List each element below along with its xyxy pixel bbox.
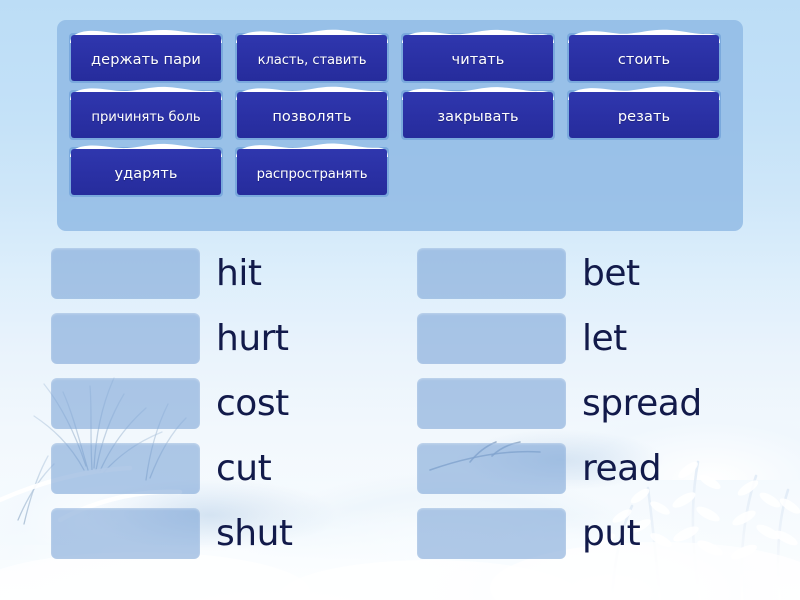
answer-column-right: bet let spread read put — [417, 246, 702, 571]
word-bank-row-1: держать пари класть, ставить читать — [69, 33, 731, 83]
answer-word: cost — [216, 386, 289, 422]
tile-label: стоить — [614, 52, 674, 68]
tile-label: позволять — [268, 109, 355, 125]
answer-row: shut — [51, 506, 293, 561]
draggable-tile[interactable]: позволять — [235, 90, 389, 140]
answer-row: hurt — [51, 311, 293, 366]
answer-dropzone[interactable] — [51, 313, 200, 364]
answer-dropzone[interactable] — [417, 378, 566, 429]
tile-label: распространять — [253, 167, 372, 182]
answer-dropzone[interactable] — [417, 508, 566, 559]
answer-dropzone[interactable] — [417, 313, 566, 364]
answer-row: spread — [417, 376, 702, 431]
answer-word: hit — [216, 256, 261, 292]
draggable-tile[interactable]: причинять боль — [69, 90, 223, 140]
tile-label: читать — [448, 52, 509, 68]
tile-body: закрывать — [403, 92, 553, 138]
draggable-tile[interactable]: держать пари — [69, 33, 223, 83]
answer-word: spread — [582, 386, 702, 422]
answer-column-left: hit hurt cost cut shut — [51, 246, 293, 571]
draggable-tile[interactable]: класть, ставить — [235, 33, 389, 83]
answer-row: read — [417, 441, 702, 496]
answer-word: shut — [216, 516, 293, 552]
draggable-tile[interactable]: распространять — [235, 147, 389, 197]
tile-body: причинять боль — [71, 92, 221, 138]
answer-dropzone[interactable] — [51, 378, 200, 429]
draggable-tile[interactable]: стоить — [567, 33, 721, 83]
tile-body: распространять — [237, 149, 387, 195]
answer-row: cost — [51, 376, 293, 431]
answer-word: let — [582, 321, 627, 357]
tile-body: ударять — [71, 149, 221, 195]
answer-dropzone[interactable] — [51, 248, 200, 299]
answer-word: hurt — [216, 321, 289, 357]
tile-label: ударять — [110, 166, 181, 182]
answer-dropzone[interactable] — [51, 443, 200, 494]
answer-word: read — [582, 451, 661, 487]
tile-body: класть, ставить — [237, 35, 387, 81]
answer-dropzone[interactable] — [417, 443, 566, 494]
answer-row: put — [417, 506, 702, 561]
tile-label: держать пари — [87, 52, 205, 68]
answer-row: bet — [417, 246, 702, 301]
draggable-tile[interactable]: резать — [567, 90, 721, 140]
tile-body: стоить — [569, 35, 719, 81]
tile-body: позволять — [237, 92, 387, 138]
answer-word: put — [582, 516, 640, 552]
tile-label: резать — [614, 109, 674, 125]
tile-label: класть, ставить — [254, 53, 371, 68]
tile-label: причинять боль — [87, 110, 204, 125]
tile-body: держать пари — [71, 35, 221, 81]
answer-dropzone[interactable] — [417, 248, 566, 299]
draggable-tile[interactable]: закрывать — [401, 90, 555, 140]
answer-word: cut — [216, 451, 271, 487]
tile-label: закрывать — [433, 109, 522, 125]
answer-row: cut — [51, 441, 293, 496]
answer-row: hit — [51, 246, 293, 301]
answer-word: bet — [582, 256, 640, 292]
answer-dropzone[interactable] — [51, 508, 200, 559]
draggable-tile[interactable]: читать — [401, 33, 555, 83]
tile-body: резать — [569, 92, 719, 138]
word-bank-row-3: ударять распространять — [69, 147, 731, 197]
tile-body: читать — [403, 35, 553, 81]
game-stage: держать пари класть, ставить читать — [0, 0, 800, 600]
word-bank-row-2: причинять боль позволять закрывать — [69, 90, 731, 140]
answer-row: let — [417, 311, 702, 366]
draggable-tile[interactable]: ударять — [69, 147, 223, 197]
word-bank-panel: держать пари класть, ставить читать — [57, 20, 743, 231]
